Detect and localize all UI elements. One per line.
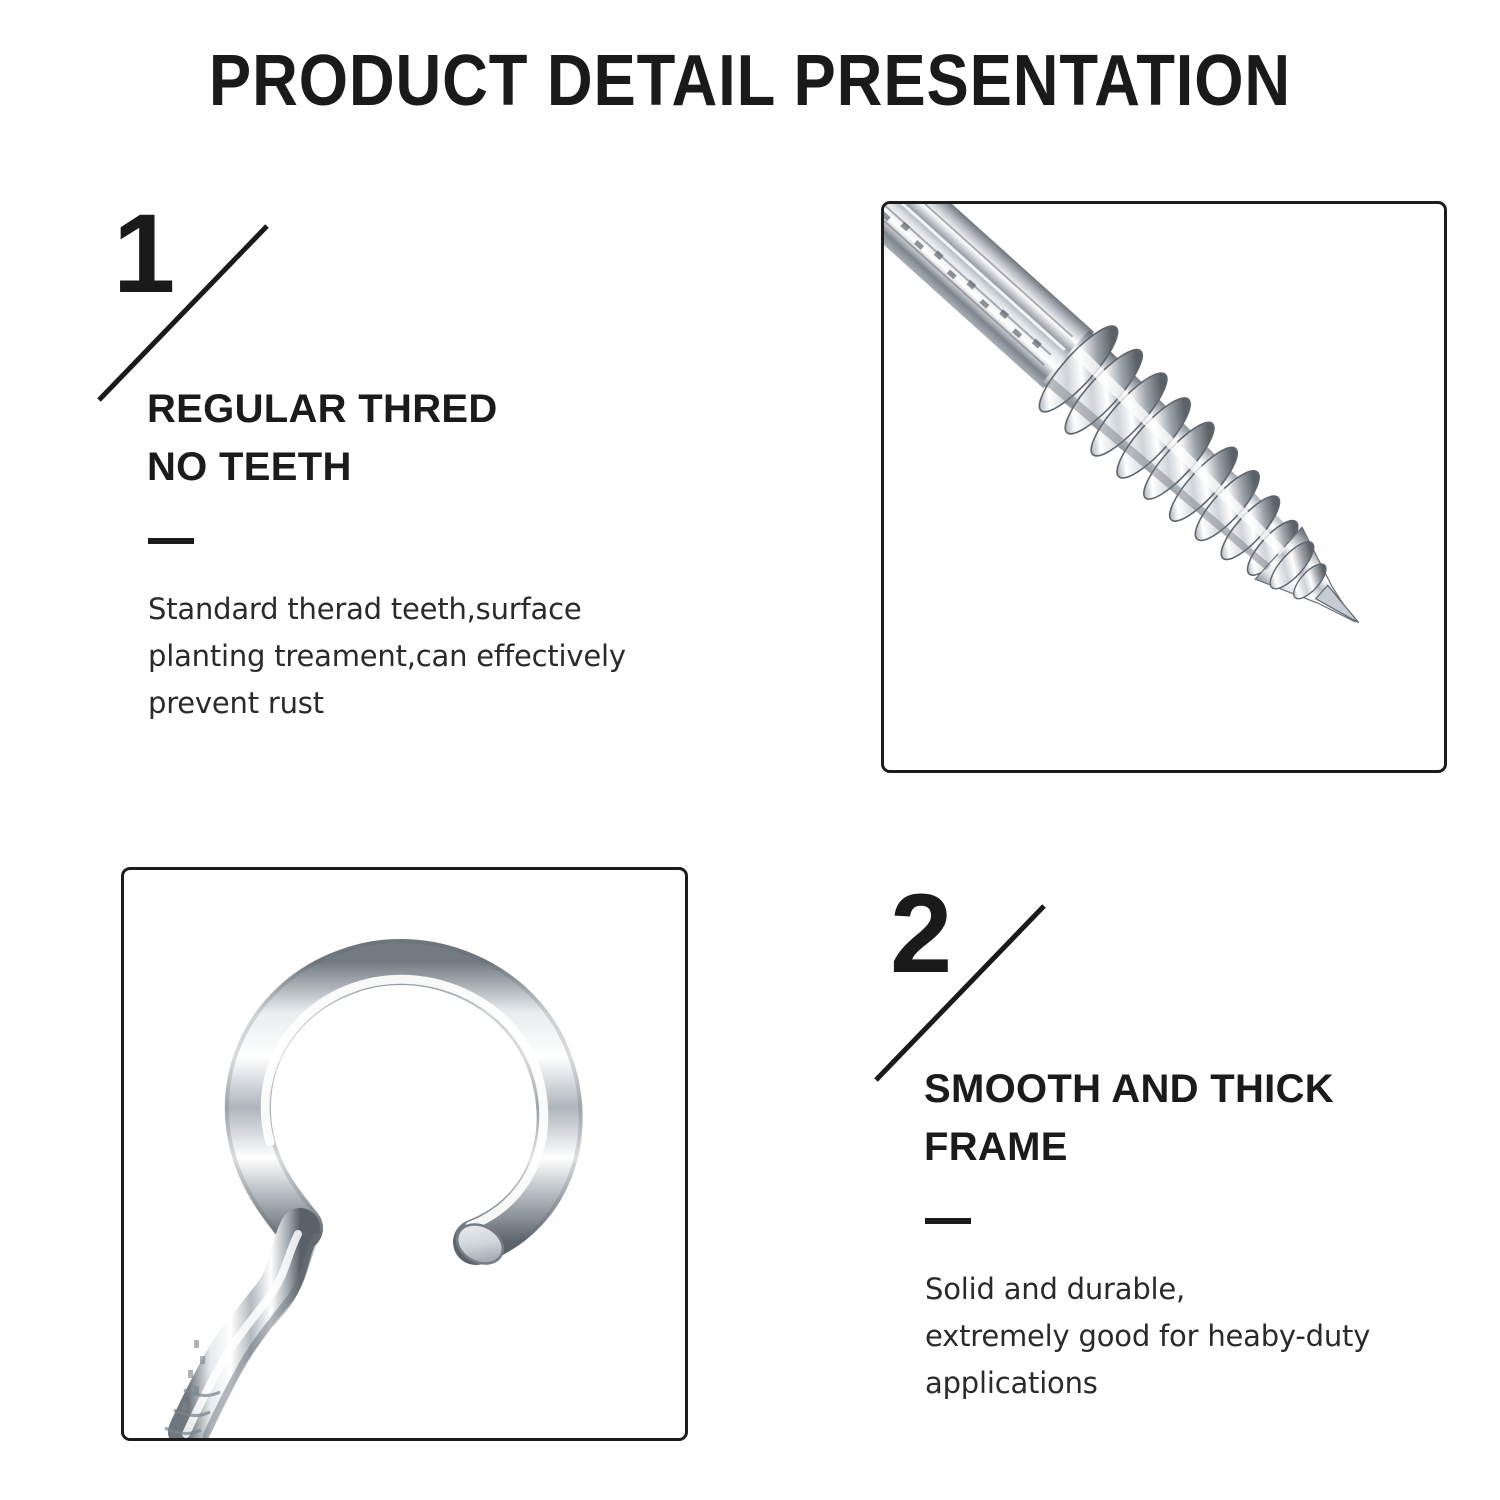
cup-hook-photo-frame [121,867,688,1441]
section-2-number-row: 2 [872,888,1492,1060]
section-2-number: 2 [890,884,952,984]
section-1-heading: REGULAR THRED NO TEETH [147,380,735,496]
section-1-divider [148,538,194,544]
cup-hook-image [124,870,685,1438]
section-1-number: 1 [113,204,175,304]
section-1-text-block: 1 REGULAR THRED NO TEETH Standard therad… [95,208,735,727]
section-1-body: Standard therad teeth,surface planting t… [148,586,735,727]
section-2-body: Solid and durable, extremely good for he… [925,1266,1492,1407]
section-1-number-row: 1 [95,208,735,380]
screw-thread-photo-frame [881,201,1447,773]
section-2-text-block: 2 SMOOTH AND THICK FRAME Solid and durab… [872,888,1492,1407]
page-title: PRODUCT DETAIL PRESENTATION [90,40,1410,122]
section-2-heading: SMOOTH AND THICK FRAME [924,1060,1492,1176]
section-2-divider [925,1218,971,1224]
product-detail-page: PRODUCT DETAIL PRESENTATION 1 REGULAR TH… [0,0,1500,1500]
screw-thread-image [884,204,1444,770]
